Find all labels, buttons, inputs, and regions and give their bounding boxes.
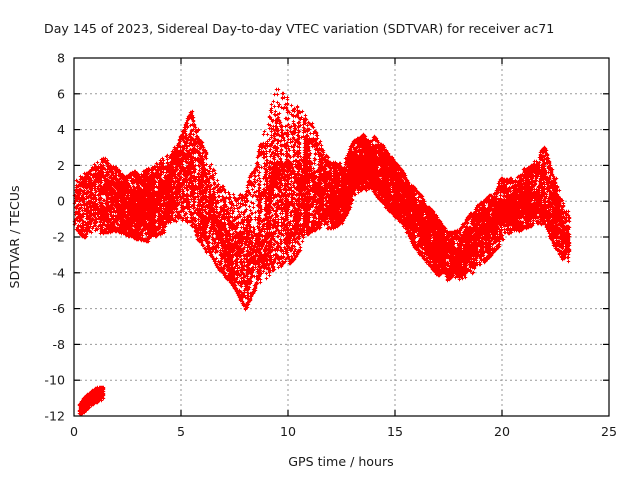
x-tick-label: 25 <box>601 424 617 439</box>
y-tick-label: 6 <box>57 86 65 101</box>
y-tick-label: -4 <box>52 265 65 280</box>
sdtvar-scatter-plot: Day 145 of 2023, Sidereal Day-to-day VTE… <box>0 0 640 480</box>
y-tick-label: 0 <box>57 194 65 209</box>
x-tick-label: 0 <box>70 424 78 439</box>
y-tick-label: -10 <box>44 373 65 388</box>
y-tick-label: -12 <box>44 409 65 424</box>
y-tick-label: 2 <box>57 158 65 173</box>
x-tick-label: 20 <box>494 424 510 439</box>
x-tick-label: 10 <box>280 424 296 439</box>
y-axis-label: SDTVAR / TECUs <box>7 185 22 288</box>
x-tick-label: 15 <box>387 424 403 439</box>
y-tick-label: -6 <box>52 301 65 316</box>
y-tick-label: 4 <box>57 122 65 137</box>
x-axis-label: GPS time / hours <box>288 454 393 469</box>
y-tick-label: -8 <box>52 337 65 352</box>
y-tick-label: -2 <box>52 230 65 245</box>
plot-background <box>0 0 640 480</box>
y-tick-label: 8 <box>57 51 65 66</box>
x-tick-label: 5 <box>177 424 185 439</box>
page-title: Day 145 of 2023, Sidereal Day-to-day VTE… <box>44 21 554 36</box>
